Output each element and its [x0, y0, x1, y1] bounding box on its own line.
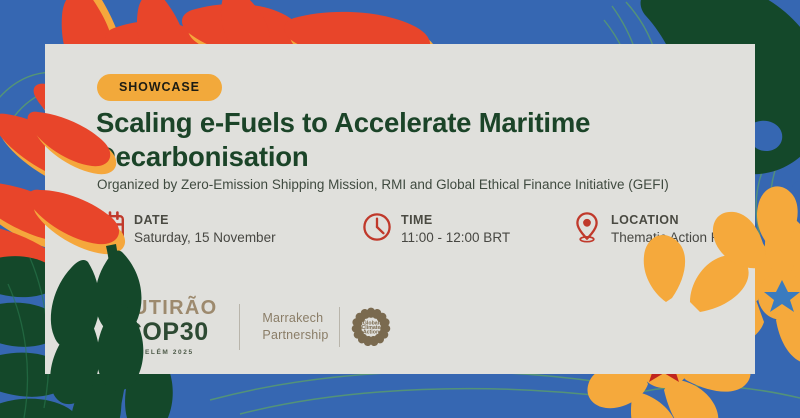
marrakech-partnership-text: Marrakech Partnership [262, 310, 328, 344]
logo-divider-left [239, 304, 240, 350]
marrakech-line-1: Marrakech [262, 310, 328, 327]
organizers-subtitle: Organized by Zero-Emission Shipping Miss… [97, 176, 747, 194]
cop30-logo-belem: BELÉM 2025 [115, 350, 217, 357]
detail-label-time: TIME [401, 213, 433, 227]
marrakech-line-2: Partnership [262, 327, 328, 344]
location-pin-icon [572, 211, 602, 243]
clock-icon [362, 211, 392, 243]
global-climate-action-rosette-icon: Global Climate Action [350, 306, 392, 348]
marrakech-partnership-logo: Marrakech Partnership [262, 306, 391, 348]
event-banner: SHOWCASE Scaling e-Fuels to Accelerate M… [0, 0, 800, 418]
detail-label-date: DATE [134, 213, 169, 227]
detail-label-location: LOCATION [611, 213, 679, 227]
event-detail-date: DATE Saturday, 15 November [95, 210, 276, 248]
logo-group: MUTIRÃO COP30 BELÉM 2025 Marrakech Partn… [115, 296, 392, 358]
calendar-icon [95, 211, 125, 243]
event-detail-location: LOCATION Thematic Action Room 4 [572, 210, 758, 248]
detail-value-date: Saturday, 15 November [134, 229, 276, 248]
cop30-logo-cop30: COP30 [115, 320, 217, 345]
event-card: SHOWCASE Scaling e-Fuels to Accelerate M… [45, 44, 755, 374]
showcase-badge: SHOWCASE [97, 74, 222, 101]
vine-lines-right [756, 140, 788, 236]
page-title: Scaling e-Fuels to Accelerate Maritime D… [96, 106, 716, 174]
logo-divider-right [339, 307, 340, 347]
cop30-logo-mutirao: MUTIRÃO [115, 298, 217, 318]
gca-line-3: Action [362, 330, 378, 336]
detail-value-location: Thematic Action Room 4 [611, 229, 758, 248]
event-details-row: DATE Saturday, 15 November TIME 11:00 - … [95, 210, 745, 260]
vine-lines-bottom [210, 371, 800, 414]
event-detail-time: TIME 11:00 - 12:00 BRT [362, 210, 510, 248]
cop30-logo: MUTIRÃO COP30 BELÉM 2025 [115, 298, 217, 357]
detail-value-time: 11:00 - 12:00 BRT [401, 229, 510, 248]
